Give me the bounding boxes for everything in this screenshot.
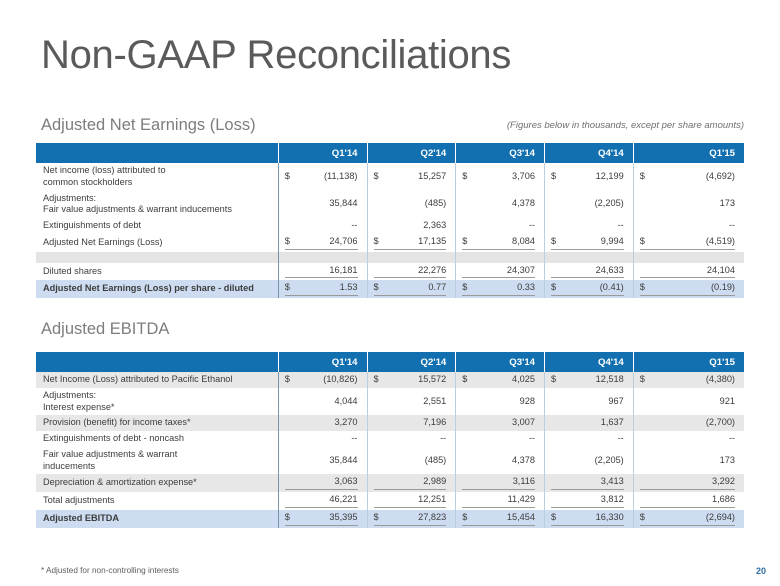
cell-value: 1,637 <box>551 417 624 429</box>
cell-value: 3,413 <box>551 476 624 490</box>
cell-value: -- <box>285 433 358 445</box>
table-row: Provision (benefit) for income taxes*3,2… <box>36 415 744 431</box>
column-header-Q115: Q1'15 <box>633 143 744 163</box>
table-header: Q1'14Q2'14Q3'14Q4'14Q1'15 <box>36 352 744 372</box>
cell-value: (2,205) <box>551 198 624 210</box>
currency-symbol: $ <box>285 282 292 294</box>
cell-value: 35,395 <box>329 512 357 524</box>
cell-Q414: $9,994 <box>545 234 634 252</box>
cell-Q414: $(0.41) <box>545 280 634 298</box>
table-header: Q1'14Q2'14Q3'14Q4'14Q1'15 <box>36 143 744 163</box>
cell-value: (485) <box>374 198 447 210</box>
cell-Q115: $(0.19) <box>633 280 744 298</box>
cell-Q114: 35,844 <box>278 191 367 219</box>
slide-root: Non-GAAP Reconciliations Adjusted Net Ea… <box>0 0 780 586</box>
cell-value: 4,044 <box>285 396 358 408</box>
table-adjusted-net-earnings: Q1'14Q2'14Q3'14Q4'14Q1'15 Net income (lo… <box>36 143 744 298</box>
cell-value: 9,994 <box>601 236 624 248</box>
cell-value: 35,844 <box>285 198 358 210</box>
cell-Q314: $15,454 <box>456 510 545 528</box>
currency-symbol: $ <box>374 512 381 524</box>
cell-value: 4,378 <box>462 455 535 467</box>
currency-symbol: $ <box>462 171 469 183</box>
cell-value: 11,429 <box>462 494 535 508</box>
cell-value: 2,551 <box>374 396 447 408</box>
currency-symbol: $ <box>640 512 647 524</box>
cell-value: (4,380) <box>706 374 735 386</box>
cell-Q115: -- <box>633 431 744 447</box>
table-row: Adjusted Net Earnings (Loss) per share -… <box>36 280 744 298</box>
currency-symbol: $ <box>551 512 558 524</box>
cell-value: (2,700) <box>640 417 735 429</box>
currency-symbol: $ <box>551 171 558 183</box>
cell-Q214: $0.77 <box>367 280 456 298</box>
column-header-Q214: Q2'14 <box>367 352 456 372</box>
cell-Q214: $17,135 <box>367 234 456 252</box>
currency-symbol: $ <box>285 171 292 183</box>
cell-value: 928 <box>462 396 535 408</box>
cell-value: 8,084 <box>512 236 535 248</box>
cell-value: 1.53 <box>340 282 358 294</box>
column-header-blank <box>36 143 278 163</box>
cell-Q115: 173 <box>633 191 744 219</box>
column-header-Q414: Q4'14 <box>545 143 634 163</box>
column-header-Q414: Q4'14 <box>545 352 634 372</box>
currency-symbol: $ <box>462 282 469 294</box>
cell-value: -- <box>462 220 535 232</box>
currency-symbol: $ <box>640 171 647 183</box>
row-label: Diluted shares <box>36 263 278 281</box>
cell-value: 12,251 <box>374 494 447 508</box>
cell-value: 3,116 <box>462 476 535 490</box>
cell-Q414: (2,205) <box>545 447 634 475</box>
cell-value: 15,454 <box>507 512 535 524</box>
cell-value: 35,844 <box>285 455 358 467</box>
cell-Q114: -- <box>278 431 367 447</box>
row-label: Adjusted EBITDA <box>36 510 278 528</box>
currency-symbol: $ <box>640 282 647 294</box>
cell-value: -- <box>640 220 735 232</box>
cell-Q115: $(2,694) <box>633 510 744 528</box>
table-body: Net income (loss) attributed to common s… <box>36 163 744 298</box>
cell-Q115: (2,700) <box>633 415 744 431</box>
cell-Q115 <box>633 252 744 263</box>
currency-symbol: $ <box>551 374 558 386</box>
currency-symbol: $ <box>374 236 381 248</box>
currency-symbol: $ <box>640 374 647 386</box>
cell-value: 3,706 <box>512 171 535 183</box>
cell-value: 15,257 <box>418 171 446 183</box>
currency-symbol: $ <box>462 374 469 386</box>
cell-Q214 <box>367 252 456 263</box>
currency-symbol: $ <box>551 236 558 248</box>
currency-symbol: $ <box>285 374 292 386</box>
cell-value: 3,270 <box>285 417 358 429</box>
cell-value: (4,519) <box>706 236 735 248</box>
row-label: Net Income (Loss) attributed to Pacific … <box>36 372 278 388</box>
cell-value: -- <box>462 433 535 445</box>
cell-Q115: $(4,519) <box>633 234 744 252</box>
cell-Q314 <box>456 252 545 263</box>
cell-value: (2,205) <box>551 455 624 467</box>
cell-value: 921 <box>640 396 735 408</box>
cell-Q114: 16,181 <box>278 263 367 281</box>
cell-Q314: -- <box>456 218 545 234</box>
currency-symbol: $ <box>374 171 381 183</box>
cell-Q414: $16,330 <box>545 510 634 528</box>
cell-Q114: 35,844 <box>278 447 367 475</box>
section-heading-net-earnings: Adjusted Net Earnings (Loss) <box>41 116 256 135</box>
cell-Q114: $1.53 <box>278 280 367 298</box>
cell-Q414: -- <box>545 218 634 234</box>
currency-symbol: $ <box>462 512 469 524</box>
table-row: Extinguishments of debt - noncash-------… <box>36 431 744 447</box>
cell-value: 12,199 <box>596 171 624 183</box>
cell-value: 173 <box>640 198 735 210</box>
cell-value: 173 <box>640 455 735 467</box>
section-heading-ebitda: Adjusted EBITDA <box>41 320 169 339</box>
cell-Q114: $24,706 <box>278 234 367 252</box>
cell-Q214: $15,257 <box>367 163 456 191</box>
cell-value: 24,706 <box>329 236 357 248</box>
cell-Q214: (485) <box>367 447 456 475</box>
cell-value: 24,633 <box>551 265 624 279</box>
cell-Q214: -- <box>367 431 456 447</box>
table-body: Net Income (Loss) attributed to Pacific … <box>36 372 744 528</box>
cell-Q114: $35,395 <box>278 510 367 528</box>
currency-symbol: $ <box>640 236 647 248</box>
cell-Q314: 24,307 <box>456 263 545 281</box>
table-adjusted-ebitda: Q1'14Q2'14Q3'14Q4'14Q1'15 Net Income (Lo… <box>36 352 744 528</box>
cell-Q114: 46,221 <box>278 492 367 510</box>
cell-value: (10,826) <box>323 374 357 386</box>
cell-value: 7,196 <box>374 417 447 429</box>
cell-Q314: 11,429 <box>456 492 545 510</box>
currency-symbol: $ <box>285 512 292 524</box>
cell-Q414: $12,518 <box>545 372 634 388</box>
row-label: Adjustments: Interest expense* <box>36 388 278 416</box>
table-row: Net Income (Loss) attributed to Pacific … <box>36 372 744 388</box>
currency-symbol: $ <box>285 236 292 248</box>
cell-value: 27,823 <box>418 512 446 524</box>
cell-Q414: $12,199 <box>545 163 634 191</box>
cell-value: -- <box>374 433 447 445</box>
cell-Q115: 921 <box>633 388 744 416</box>
cell-Q314: -- <box>456 431 545 447</box>
cell-Q314: $3,706 <box>456 163 545 191</box>
table-row: Total adjustments46,22112,25111,4293,812… <box>36 492 744 510</box>
cell-Q114: 3,063 <box>278 474 367 492</box>
cell-value: 24,307 <box>462 265 535 279</box>
cell-Q414: 3,413 <box>545 474 634 492</box>
cell-value: -- <box>640 433 735 445</box>
cell-Q214: 2,551 <box>367 388 456 416</box>
table-row: Adjusted Net Earnings (Loss)$24,706$17,1… <box>36 234 744 252</box>
cell-value: 22,276 <box>374 265 447 279</box>
table-row: Adjustments: Fair value adjustments & wa… <box>36 191 744 219</box>
cell-value: 4,025 <box>512 374 535 386</box>
cell-value: 0.77 <box>428 282 446 294</box>
cell-Q115: 1,686 <box>633 492 744 510</box>
cell-Q114: 3,270 <box>278 415 367 431</box>
footnote: * Adjusted for non-controlling interests <box>41 566 179 575</box>
cell-value: 0.33 <box>517 282 535 294</box>
cell-value: (0.19) <box>711 282 735 294</box>
table-row: Adjustments: Interest expense*4,0442,551… <box>36 388 744 416</box>
table-header-row: Q1'14Q2'14Q3'14Q4'14Q1'15 <box>36 352 744 372</box>
cell-Q414: 24,633 <box>545 263 634 281</box>
cell-value: 3,812 <box>551 494 624 508</box>
page-number: 20 <box>756 566 766 576</box>
row-label <box>36 252 278 263</box>
cell-value: -- <box>551 433 624 445</box>
cell-value: 16,330 <box>596 512 624 524</box>
cell-Q314: 3,116 <box>456 474 545 492</box>
cell-Q115: $(4,692) <box>633 163 744 191</box>
cell-value: 3,292 <box>640 476 735 490</box>
cell-Q314: $4,025 <box>456 372 545 388</box>
row-label: Provision (benefit) for income taxes* <box>36 415 278 431</box>
row-label: Adjusted Net Earnings (Loss) per share -… <box>36 280 278 298</box>
table-row: Net income (loss) attributed to common s… <box>36 163 744 191</box>
cell-Q214: $27,823 <box>367 510 456 528</box>
currency-symbol: $ <box>374 374 381 386</box>
cell-value: 4,378 <box>462 198 535 210</box>
cell-Q314: 4,378 <box>456 447 545 475</box>
table-row: Extinguishments of debt--2,363------ <box>36 218 744 234</box>
cell-value: (11,138) <box>324 171 358 183</box>
cell-value: 967 <box>551 396 624 408</box>
column-header-Q115: Q1'15 <box>633 352 744 372</box>
cell-value: 15,572 <box>418 374 446 386</box>
column-header-blank <box>36 352 278 372</box>
cell-value: 17,135 <box>418 236 446 248</box>
cell-Q214: 12,251 <box>367 492 456 510</box>
table-row: Fair value adjustments & warrant inducem… <box>36 447 744 475</box>
row-label: Extinguishments of debt <box>36 218 278 234</box>
currency-symbol: $ <box>374 282 381 294</box>
cell-Q114: $(10,826) <box>278 372 367 388</box>
cell-Q214: 2,989 <box>367 474 456 492</box>
cell-value: 3,007 <box>462 417 535 429</box>
row-label: Extinguishments of debt - noncash <box>36 431 278 447</box>
cell-Q115: 3,292 <box>633 474 744 492</box>
cell-Q115: 24,104 <box>633 263 744 281</box>
cell-Q214: 2,363 <box>367 218 456 234</box>
cell-value: 2,989 <box>374 476 447 490</box>
cell-Q115: 173 <box>633 447 744 475</box>
table-row: Depreciation & amortization expense*3,06… <box>36 474 744 492</box>
cell-Q414: -- <box>545 431 634 447</box>
column-header-Q114: Q1'14 <box>278 143 367 163</box>
cell-value: (4,692) <box>706 171 735 183</box>
column-header-Q114: Q1'14 <box>278 352 367 372</box>
table-row: Diluted shares16,18122,27624,30724,63324… <box>36 263 744 281</box>
cell-Q214: (485) <box>367 191 456 219</box>
row-label: Adjustments: Fair value adjustments & wa… <box>36 191 278 219</box>
figures-note: (Figures below in thousands, except per … <box>507 120 744 131</box>
cell-Q114 <box>278 252 367 263</box>
cell-Q414: 1,637 <box>545 415 634 431</box>
cell-Q214: 22,276 <box>367 263 456 281</box>
page-title: Non-GAAP Reconciliations <box>41 33 511 78</box>
cell-value: 16,181 <box>285 265 358 279</box>
cell-value: 24,104 <box>640 265 735 279</box>
row-label: Depreciation & amortization expense* <box>36 474 278 492</box>
row-label: Total adjustments <box>36 492 278 510</box>
cell-value: (485) <box>374 455 447 467</box>
cell-Q115: -- <box>633 218 744 234</box>
cell-Q114: -- <box>278 218 367 234</box>
cell-value: 2,363 <box>374 220 447 232</box>
cell-value: (2,694) <box>706 512 735 524</box>
currency-symbol: $ <box>462 236 469 248</box>
cell-Q414: (2,205) <box>545 191 634 219</box>
cell-Q114: 4,044 <box>278 388 367 416</box>
table-row: Adjusted EBITDA$35,395$27,823$15,454$16,… <box>36 510 744 528</box>
cell-Q314: $0.33 <box>456 280 545 298</box>
table-header-row: Q1'14Q2'14Q3'14Q4'14Q1'15 <box>36 143 744 163</box>
cell-Q214: 7,196 <box>367 415 456 431</box>
cell-Q314: 4,378 <box>456 191 545 219</box>
cell-Q414: 3,812 <box>545 492 634 510</box>
cell-Q414: 967 <box>545 388 634 416</box>
row-label: Fair value adjustments & warrant inducem… <box>36 447 278 475</box>
cell-Q314: 928 <box>456 388 545 416</box>
column-header-Q314: Q3'14 <box>456 352 545 372</box>
row-label: Net income (loss) attributed to common s… <box>36 163 278 191</box>
column-header-Q314: Q3'14 <box>456 143 545 163</box>
cell-Q114: $(11,138) <box>278 163 367 191</box>
cell-Q314: 3,007 <box>456 415 545 431</box>
cell-value: 12,518 <box>596 374 624 386</box>
cell-value: -- <box>285 220 358 232</box>
currency-symbol: $ <box>551 282 558 294</box>
column-header-Q214: Q2'14 <box>367 143 456 163</box>
cell-value: (0.41) <box>600 282 624 294</box>
cell-value: -- <box>551 220 624 232</box>
cell-value: 1,686 <box>640 494 735 508</box>
row-label: Adjusted Net Earnings (Loss) <box>36 234 278 252</box>
cell-Q214: $15,572 <box>367 372 456 388</box>
cell-Q314: $8,084 <box>456 234 545 252</box>
cell-value: 46,221 <box>285 494 358 508</box>
table-spacer-row <box>36 252 744 263</box>
cell-value: 3,063 <box>285 476 358 490</box>
cell-Q115: $(4,380) <box>633 372 744 388</box>
cell-Q414 <box>545 252 634 263</box>
